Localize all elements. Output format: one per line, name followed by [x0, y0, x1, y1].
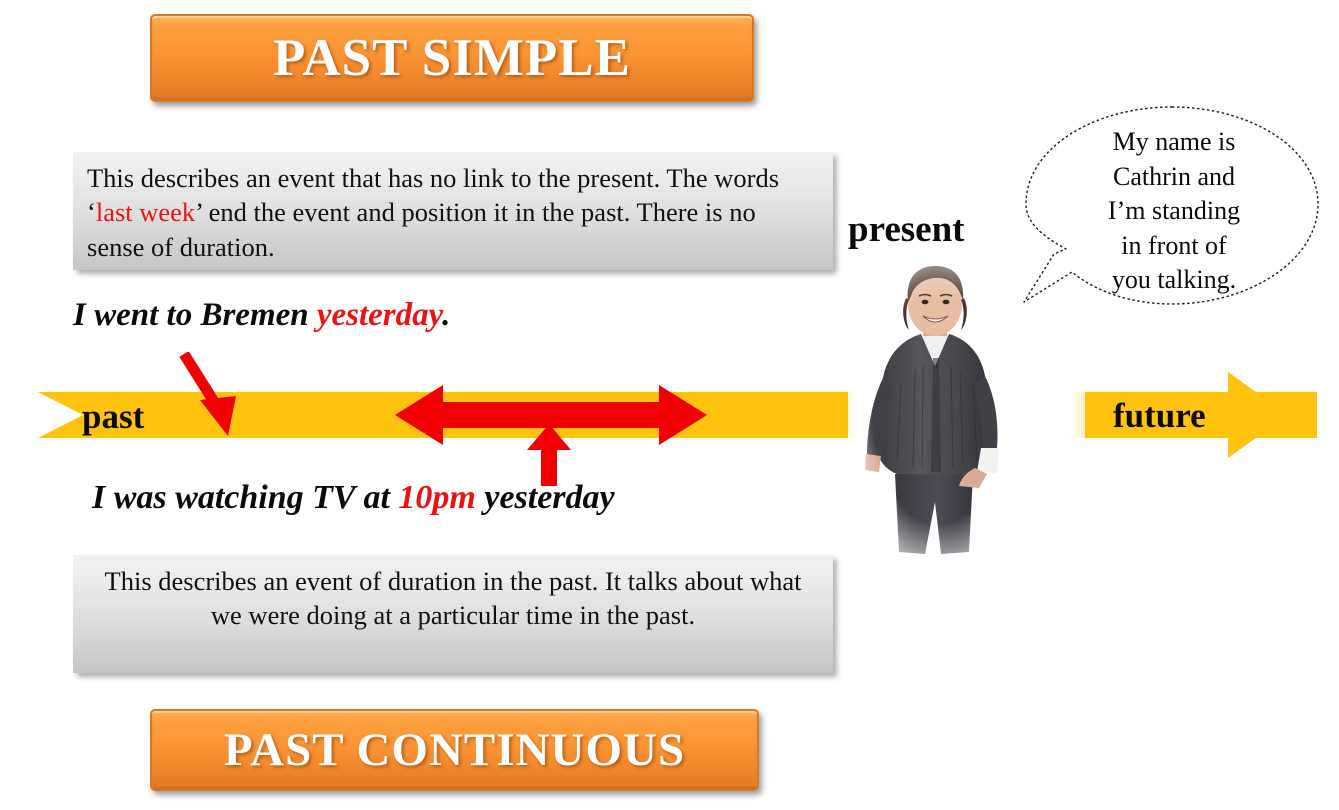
- description-text-continuous: This describes an event of duration in t…: [105, 566, 802, 630]
- timeline-bar-fade-left: [760, 392, 860, 438]
- example-sentence-past-simple: I went to Bremen yesterday.: [73, 295, 493, 336]
- sentence-continuous-part2: yesterday: [476, 479, 615, 516]
- sentence-continuous-part1: I was watching TV at: [92, 479, 398, 516]
- bubble-line: My name is: [1058, 125, 1290, 160]
- timeline-label-present: present: [848, 208, 964, 251]
- bubble-line: you talking.: [1058, 263, 1290, 298]
- description-box-past-simple: This describes an event that has no link…: [73, 152, 833, 270]
- sentence-simple-part2: .: [442, 297, 450, 333]
- banner-past-simple-label: PAST SIMPLE: [273, 28, 631, 88]
- bubble-line: Cathrin and: [1058, 160, 1290, 195]
- timeline-label-future: future: [1113, 396, 1206, 436]
- banner-past-simple: PAST SIMPLE: [150, 14, 754, 102]
- example-sentence-past-continuous: I was watching TV at 10pm yesterday: [92, 479, 615, 517]
- pointer-arrow-icon: [178, 352, 242, 438]
- timeline-label-past: past: [82, 397, 144, 437]
- person-photo: [853, 262, 1023, 558]
- bubble-line: in front of: [1058, 229, 1290, 264]
- up-arrow-icon: [527, 424, 571, 486]
- description-highlight-last-week: last week: [96, 197, 195, 227]
- speech-bubble-text: My name is Cathrin and I’m standing in f…: [1058, 125, 1290, 298]
- bubble-line: I’m standing: [1058, 194, 1290, 229]
- banner-past-continuous-label: PAST CONTINUOUS: [224, 723, 685, 777]
- sentence-simple-highlight: yesterday: [317, 297, 442, 333]
- sentence-continuous-highlight: 10pm: [398, 479, 475, 516]
- sentence-simple-part1: I went to Bremen: [73, 297, 317, 333]
- diagram-canvas: PAST SIMPLE This describes an event that…: [0, 0, 1339, 810]
- timeline-arrowhead-icon: [1228, 372, 1288, 458]
- banner-past-continuous: PAST CONTINUOUS: [150, 709, 759, 791]
- description-box-past-continuous: This describes an event of duration in t…: [73, 555, 833, 673]
